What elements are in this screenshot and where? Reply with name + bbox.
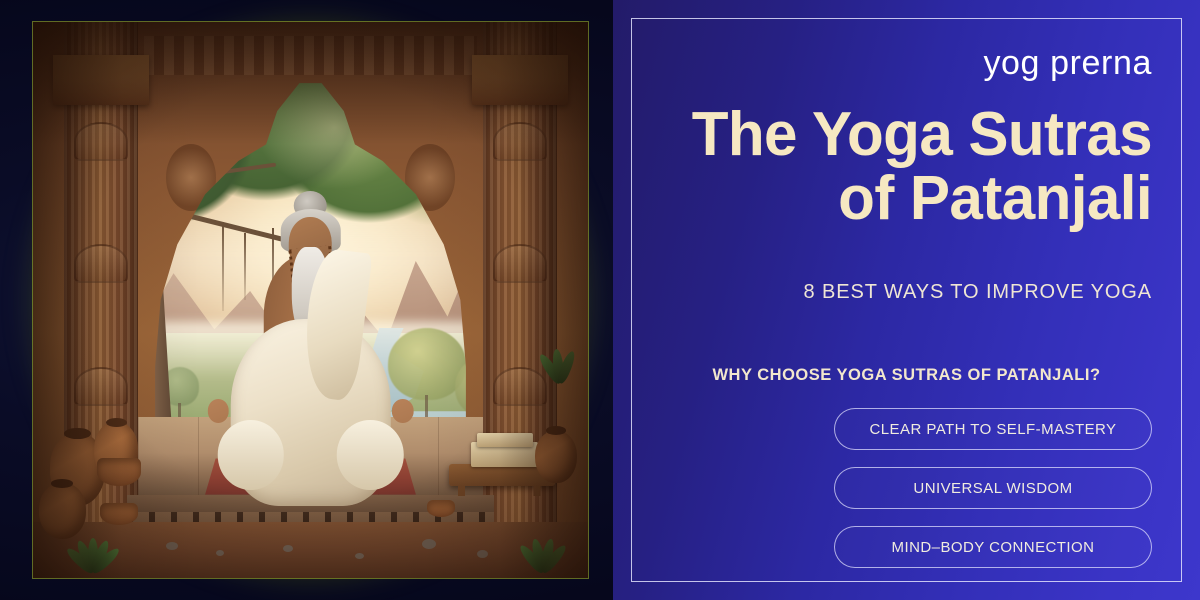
sage-leg	[217, 420, 284, 489]
benefit-pill-universal-wisdom[interactable]: UNIVERSAL WISDOM	[834, 467, 1152, 509]
artwork-container	[33, 22, 588, 578]
arch-frieze	[144, 36, 477, 75]
column-capital	[53, 55, 149, 105]
pebble	[422, 539, 436, 549]
column-carving	[493, 122, 547, 161]
foreground-plant	[44, 511, 133, 572]
brand-logo[interactable]: yog prerna	[983, 46, 1152, 80]
content-panel: yog prerna The Yoga Sutras of Patanjali …	[613, 0, 1200, 600]
foreground-plant	[499, 517, 577, 573]
sage-meditation-illustration	[33, 22, 588, 578]
promo-banner: yog prerna The Yoga Sutras of Patanjali …	[0, 0, 1200, 600]
clay-bowl	[427, 500, 455, 517]
sage-hand-mudra	[207, 399, 229, 423]
benefit-pill-list: CLEAR PATH TO SELF-MASTERY UNIVERSAL WIS…	[834, 408, 1152, 568]
clay-pot	[535, 431, 577, 484]
palm-leaf-manuscript	[477, 433, 533, 447]
column-carving	[74, 367, 128, 406]
subtitle: 8 BEST WAYS TO IMPROVE YOGA	[661, 281, 1152, 304]
benefit-pill-self-mastery[interactable]: CLEAR PATH TO SELF-MASTERY	[834, 408, 1152, 450]
column-carving	[493, 244, 547, 283]
benefit-pill-mind-body-connection[interactable]: MIND–BODY CONNECTION	[834, 526, 1152, 568]
page-title: The Yoga Sutras of Patanjali	[676, 103, 1152, 231]
aerial-root	[222, 222, 224, 311]
meditating-sage	[227, 239, 394, 506]
pebble	[355, 553, 364, 559]
pebble	[166, 542, 178, 550]
page-title-line-2: of Patanjali	[676, 167, 1152, 231]
side-plant	[527, 333, 583, 383]
column-capital	[472, 55, 568, 105]
column-carving	[74, 244, 128, 283]
page-title-line-1: The Yoga Sutras	[692, 100, 1152, 169]
sage-leg	[337, 420, 404, 489]
pebble	[283, 545, 293, 552]
column-carving	[74, 122, 128, 161]
why-choose-heading: WHY CHOOSE YOGA SUTRAS OF PATANJALI?	[661, 366, 1152, 385]
